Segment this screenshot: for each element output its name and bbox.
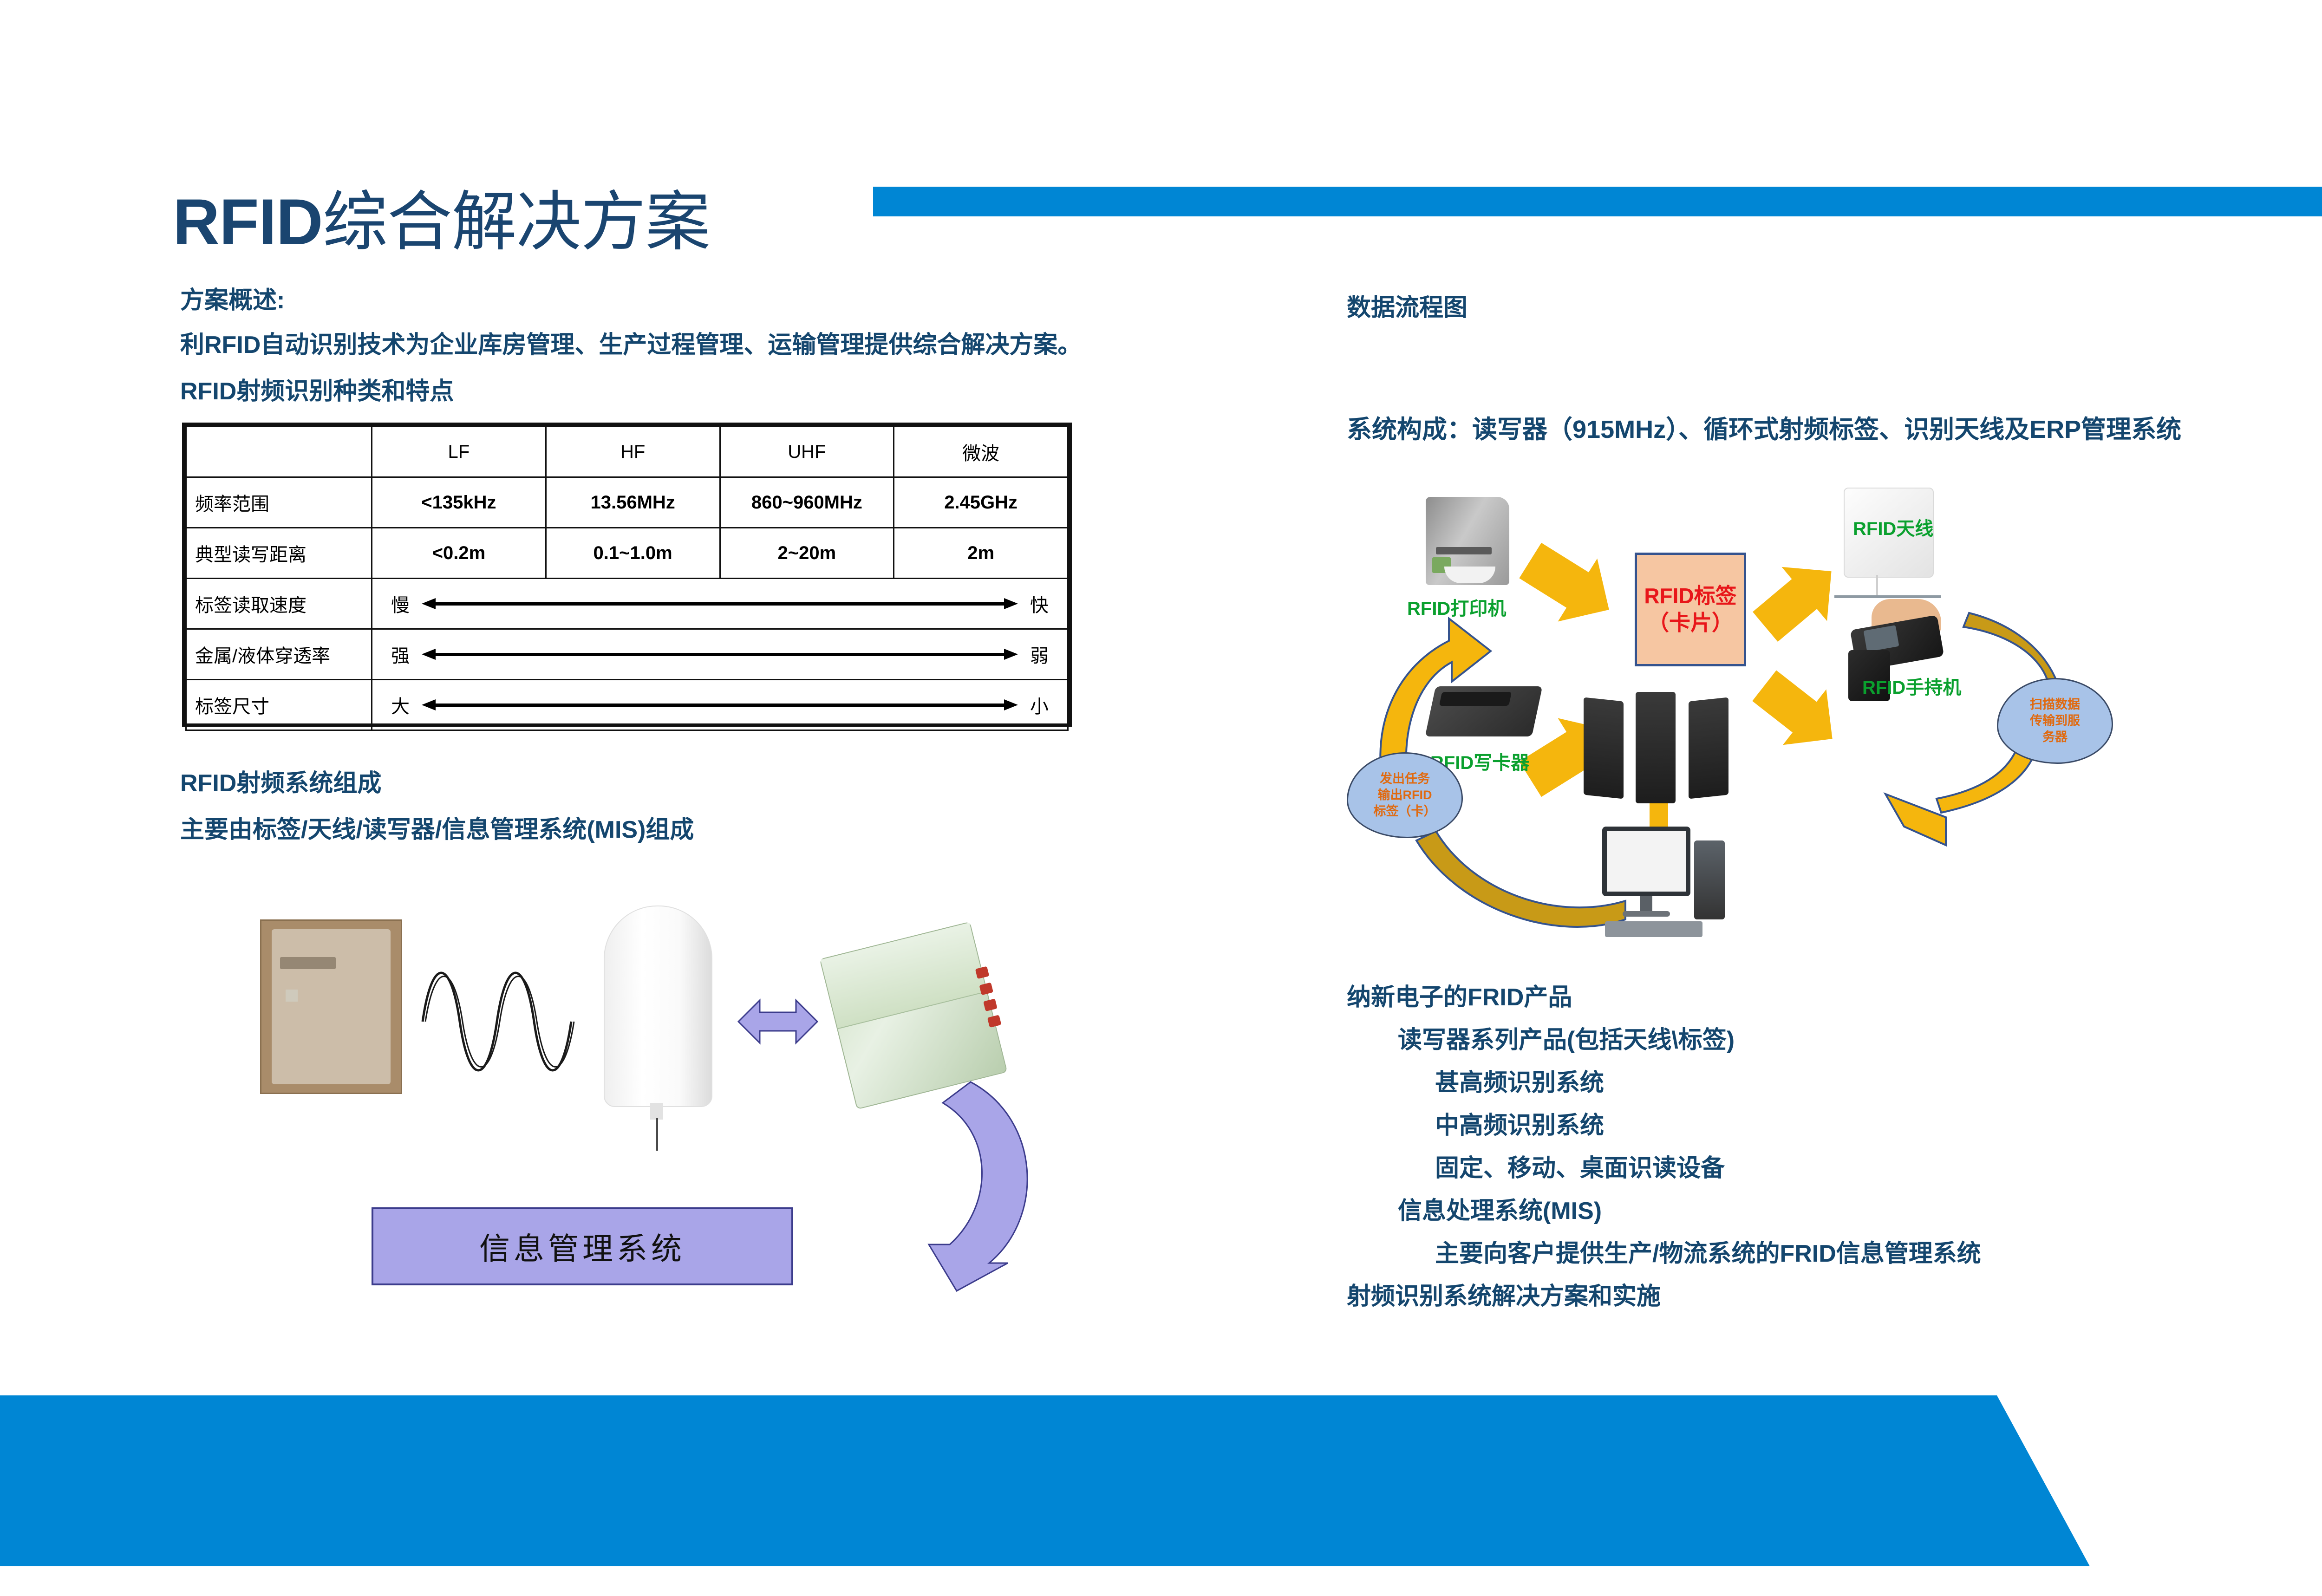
cell-dist-lf: <0.2m [372, 528, 546, 579]
list-item: 主要向客户提供生产/物流系统的FRID信息管理系统 [1435, 1242, 1981, 1266]
list-item: 纳新电子的FRID产品 [1347, 985, 1981, 1010]
rfid-card-writer-image [1430, 678, 1546, 748]
label-rfid-handheld: RFID手持机 [1862, 672, 1961, 699]
rfid-frequency-table: LF HF UHF 微波 频率范围 <135kHz 13.56MHz 860~9… [182, 423, 1072, 727]
table-row: 频率范围 <135kHz 13.56MHz 860~960MHz 2.45GHz [186, 477, 1068, 528]
cloud-right-line3: 务器 [2042, 729, 2068, 745]
list-item: 射频识别系统解决方案和实施 [1347, 1284, 1981, 1309]
dataflow-heading: 数据流程图 [1347, 288, 1468, 323]
arrow-left-label-penetration: 强 [391, 641, 410, 668]
cell-dist-hf: 0.1~1.0m [546, 528, 720, 579]
cloud-left-line2: 输出RFID [1378, 787, 1432, 803]
table-row: 标签尺寸 大 小 [186, 680, 1068, 730]
cloud-right-line2: 传输到服 [2030, 713, 2080, 729]
cell-dist-mw: 2m [894, 528, 1068, 579]
system-composition: 系统构成：读写器（915MHz）、循环式射频标签、识别天线及ERP管理系统 [1347, 409, 2181, 445]
gradient-arrow-read-speed: 慢 快 [372, 579, 1068, 629]
row-label-read-speed: 标签读取速度 [186, 579, 372, 629]
table-header-row: LF HF UHF 微波 [186, 427, 1068, 477]
double-arrow-icon [422, 699, 1018, 710]
arrow-tag-to-antenna-icon [1742, 544, 1854, 654]
rfid-tag-center-box: RFID标签 （卡片） [1635, 553, 1746, 666]
server-rack-image [1584, 692, 1737, 808]
list-item: 中高频识别系统 [1435, 1114, 1981, 1138]
list-item: 信息处理系统(MIS) [1398, 1199, 1981, 1223]
cell-freq-lf: <135kHz [372, 477, 546, 528]
rf-wave-icon [418, 952, 585, 1087]
page-title-en: RFID [173, 185, 323, 258]
row-label-read-distance: 典型读写距离 [186, 528, 372, 579]
cell-freq-uhf: 860~960MHz [720, 477, 894, 528]
desktop-computer-image [1602, 827, 1732, 938]
page-title: RFID综合解决方案 [173, 189, 710, 254]
cloud-right-line1: 扫描数据 [2030, 697, 2080, 713]
table-row: 典型读写距离 <0.2m 0.1~1.0m 2~20m 2m [186, 528, 1068, 579]
row-label-tag-size: 标签尺寸 [186, 680, 372, 730]
table-header-lf: LF [372, 427, 546, 477]
arrow-printer-to-tag-icon [1511, 529, 1629, 641]
row-label-frequency-range: 频率范围 [186, 477, 372, 528]
table-header-blank [186, 427, 372, 477]
cell-freq-hf: 13.56MHz [546, 477, 720, 528]
slide-canvas: RFID综合解决方案 方案概述: 利RFID自动识别技术为企业库房管理、生产过程… [0, 0, 2322, 1596]
list-item: 固定、移动、桌面识读设备 [1435, 1156, 1981, 1180]
cloud-left-line3: 标签（卡） [1374, 803, 1436, 820]
table-header-uhf: UHF [720, 427, 894, 477]
arrow-right-label-size: 小 [1030, 691, 1049, 718]
rfid-tag-line2: （卡片） [1648, 610, 1733, 637]
list-item: 甚高频识别系统 [1435, 1071, 1981, 1095]
rfid-printer-image [1426, 497, 1519, 590]
double-arrow-icon [422, 598, 1018, 609]
rfid-system-illustration: 信息管理系统 [232, 882, 1045, 1328]
mis-box-label: 信息管理系统 [479, 1224, 685, 1269]
rfid-tag-photo [260, 919, 402, 1094]
gradient-arrow-tag-size: 大 小 [372, 680, 1068, 730]
page-title-cn: 综合解决方案 [323, 185, 710, 258]
table-header-microwave: 微波 [894, 427, 1068, 477]
curve-cloud-to-pc-icon [1416, 831, 1625, 927]
arrow-left-label-speed: 慢 [391, 590, 410, 617]
bottom-accent-parallelogram [0, 1395, 2090, 1566]
double-arrow-icon [422, 649, 1018, 660]
kinds-heading: RFID射频识别种类和特点 [180, 371, 454, 406]
data-flow-diagram: RFID打印机 RFID写卡器 RFID天线 RFID手持机 RFID标签 （卡… [1337, 474, 2155, 966]
product-list: 纳新电子的FRID产品 读写器系列产品(包括天线\标签) 甚高频识别系统 中高频… [1347, 985, 1981, 1327]
cell-freq-mw: 2.45GHz [894, 477, 1068, 528]
rfid-tag-line1: RFID标签 [1644, 583, 1736, 610]
gradient-arrow-penetration: 强 弱 [372, 629, 1068, 680]
cell-dist-uhf: 2~20m [720, 528, 894, 579]
arrow-right-label-penetration: 弱 [1030, 641, 1049, 668]
arrow-right-label-speed: 快 [1030, 590, 1049, 617]
table-row: 金属/液体穿透率 强 弱 [186, 629, 1068, 680]
overview-label: 方案概述: [180, 280, 285, 315]
table-row: 标签读取速度 慢 快 [186, 579, 1068, 629]
mis-box: 信息管理系统 [372, 1207, 793, 1285]
cloud-left-line1: 发出任务 [1380, 771, 1430, 787]
rfid-antenna-photo [604, 905, 711, 1128]
list-item: 读写器系列产品(包括天线\标签) [1398, 1028, 1981, 1052]
cloud-scan-upload: 扫描数据 传输到服 务器 [1997, 678, 2113, 764]
arrow-left-label-size: 大 [391, 691, 410, 718]
curved-arrow-to-mis-icon [901, 1077, 1054, 1296]
overview-body: 利RFID自动识别技术为企业库房管理、生产过程管理、运输管理提供综合解决方案。 [180, 325, 1082, 360]
compose-body: 主要由标签/天线/读写器/信息管理系统(MIS)组成 [180, 810, 694, 845]
arrow-tag-to-handheld-icon [1742, 658, 1854, 767]
bidirectional-arrow-icon [738, 994, 817, 1049]
label-rfid-printer: RFID打印机 [1407, 593, 1506, 620]
label-rfid-antenna: RFID天线 [1853, 514, 1933, 541]
compose-heading: RFID射频系统组成 [180, 763, 381, 798]
table-header-hf: HF [546, 427, 720, 477]
top-accent-bar [873, 187, 2322, 216]
cloud-issue-task: 发出任务 输出RFID 标签（卡） [1347, 752, 1463, 838]
row-label-penetration: 金属/液体穿透率 [186, 629, 372, 680]
